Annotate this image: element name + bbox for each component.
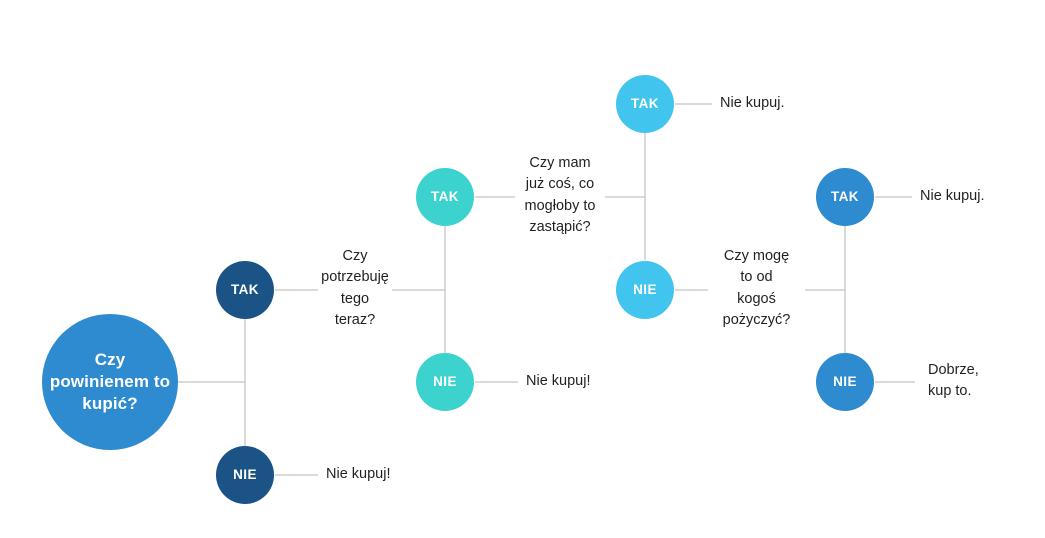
outcome-level4-no-text: Dobrze, kup to.	[928, 360, 1038, 403]
connector-lines	[0, 0, 1045, 538]
node-level4-no[interactable]: NIE	[816, 353, 874, 411]
question-3-text: Czy mogę to od kogoś pożyczyć?	[705, 246, 808, 332]
node-level3-no[interactable]: NIE	[616, 261, 674, 319]
node-level1-no[interactable]: NIE	[216, 446, 274, 504]
node-level1-yes-label: TAK	[225, 281, 265, 298]
decision-tree-diagram: Czy powinienem to kupić? TAK NIE Czy pot…	[0, 0, 1045, 538]
node-level1-yes[interactable]: TAK	[216, 261, 274, 319]
outcome-level3-yes-text: Nie kupuj.	[720, 93, 870, 114]
node-level2-no[interactable]: NIE	[416, 353, 474, 411]
question-1-text: Czy potrzebuję tego teraz?	[305, 246, 405, 332]
node-level4-yes[interactable]: TAK	[816, 168, 874, 226]
node-level2-yes-label: TAK	[425, 188, 465, 205]
outcome-level1-no-text: Nie kupuj!	[326, 464, 476, 485]
node-level2-no-label: NIE	[427, 373, 463, 390]
outcome-level2-no-text: Nie kupuj!	[526, 371, 676, 392]
node-level2-yes[interactable]: TAK	[416, 168, 474, 226]
node-level1-no-label: NIE	[227, 466, 263, 483]
node-root[interactable]: Czy powinienem to kupić?	[42, 314, 178, 450]
node-level3-no-label: NIE	[627, 281, 663, 298]
node-root-label: Czy powinienem to kupić?	[42, 349, 178, 414]
node-level4-yes-label: TAK	[825, 188, 865, 205]
question-2-text: Czy mam już coś, co mogłoby to zastąpić?	[510, 153, 610, 239]
node-level3-yes[interactable]: TAK	[616, 75, 674, 133]
outcome-level4-yes-text: Nie kupuj.	[920, 186, 1040, 207]
node-level4-no-label: NIE	[827, 373, 863, 390]
node-level3-yes-label: TAK	[625, 95, 665, 112]
